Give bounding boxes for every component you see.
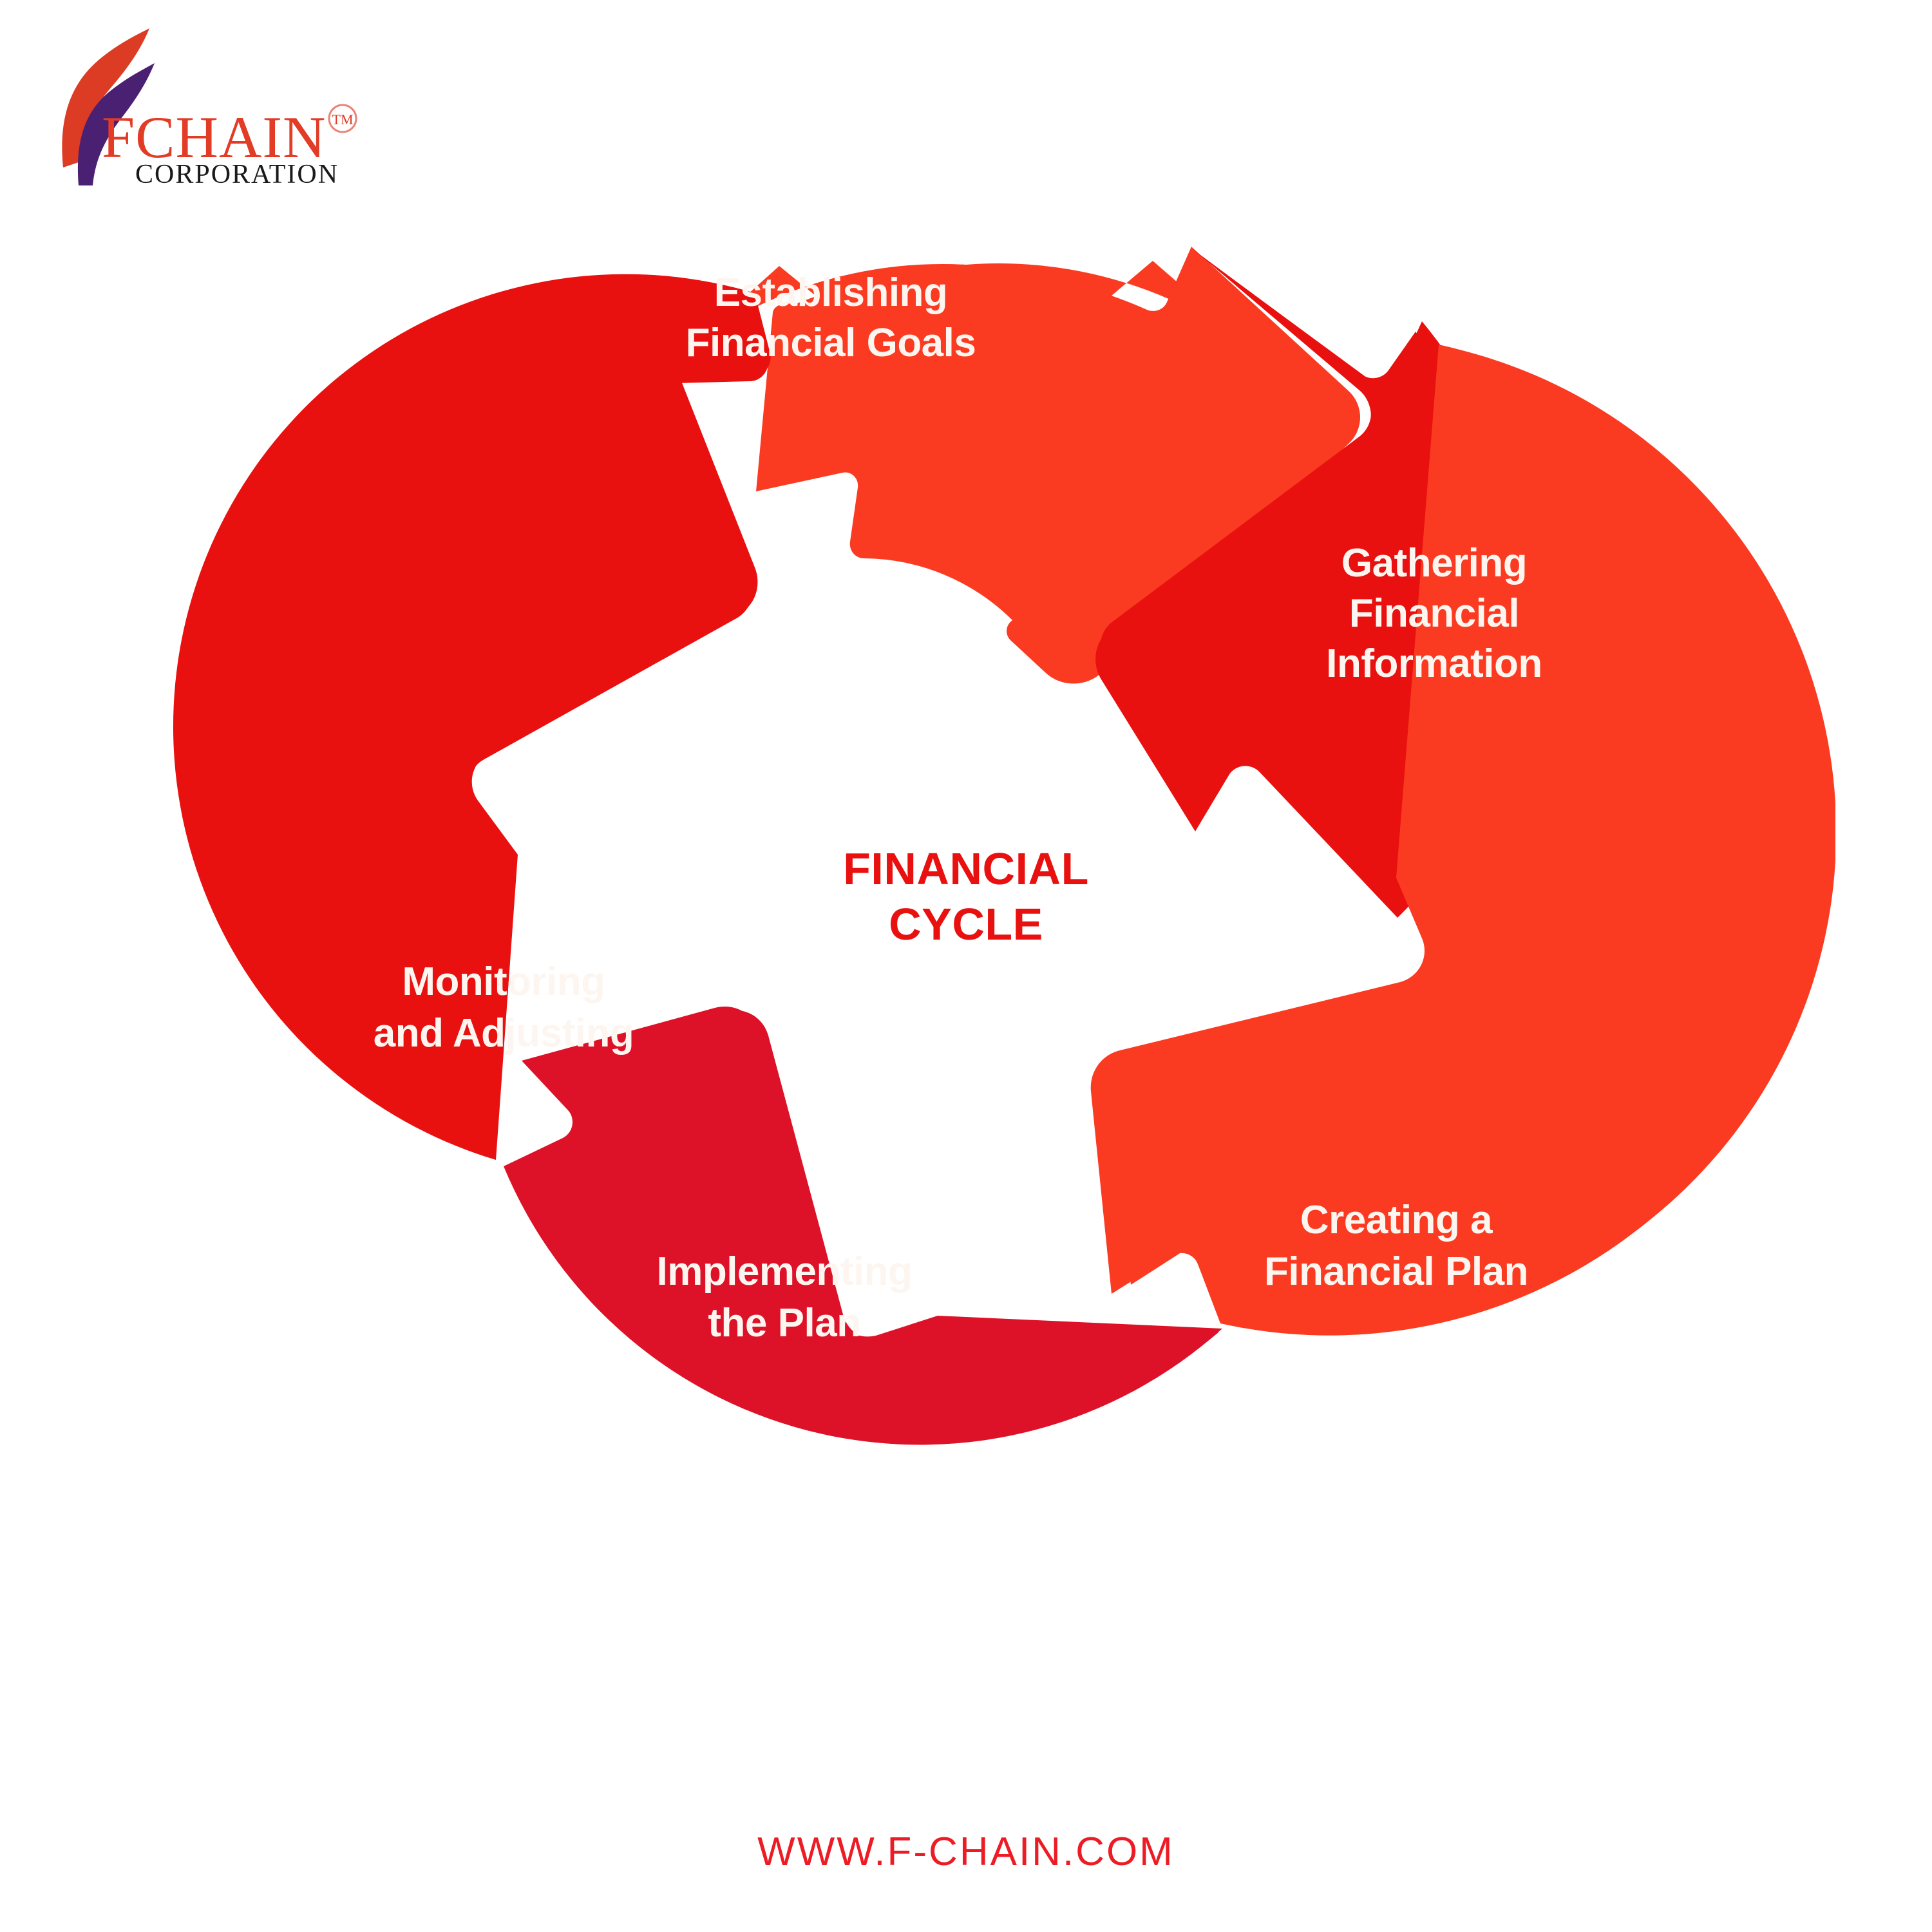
label-establishing-line1: Establishing [714, 270, 948, 315]
label-implementing-line2: the Plan [708, 1301, 860, 1345]
label-monitoring-line2: and Adjusting [374, 1011, 634, 1056]
website-url[interactable]: WWW.F-CHAIN.COM [757, 1829, 1175, 1875]
label-implementing-line1: Implementing [656, 1249, 912, 1294]
label-creating-line1: Creating a [1300, 1198, 1493, 1242]
footer: WWW.F-CHAIN.COM [0, 1829, 1932, 1875]
label-gathering-line3: Information [1326, 641, 1542, 686]
label-creating-line2: Financial Plan [1264, 1249, 1528, 1294]
center-title-line1: FINANCIAL [843, 844, 1089, 894]
label-gathering-line1: Gathering [1341, 541, 1527, 585]
label-establishing-line2: Financial Goals [686, 321, 976, 365]
label-gathering-line2: Financial [1349, 591, 1519, 636]
center-hub: FINANCIAL CYCLE [843, 844, 1089, 949]
financial-cycle-diagram: Establishing Financial Goals Gathering F… [0, 61, 1932, 1748]
label-monitoring-line1: Monitoring [402, 960, 605, 1004]
center-title-line2: CYCLE [889, 899, 1043, 949]
label-gathering: Gathering Financial Information [1326, 541, 1542, 686]
